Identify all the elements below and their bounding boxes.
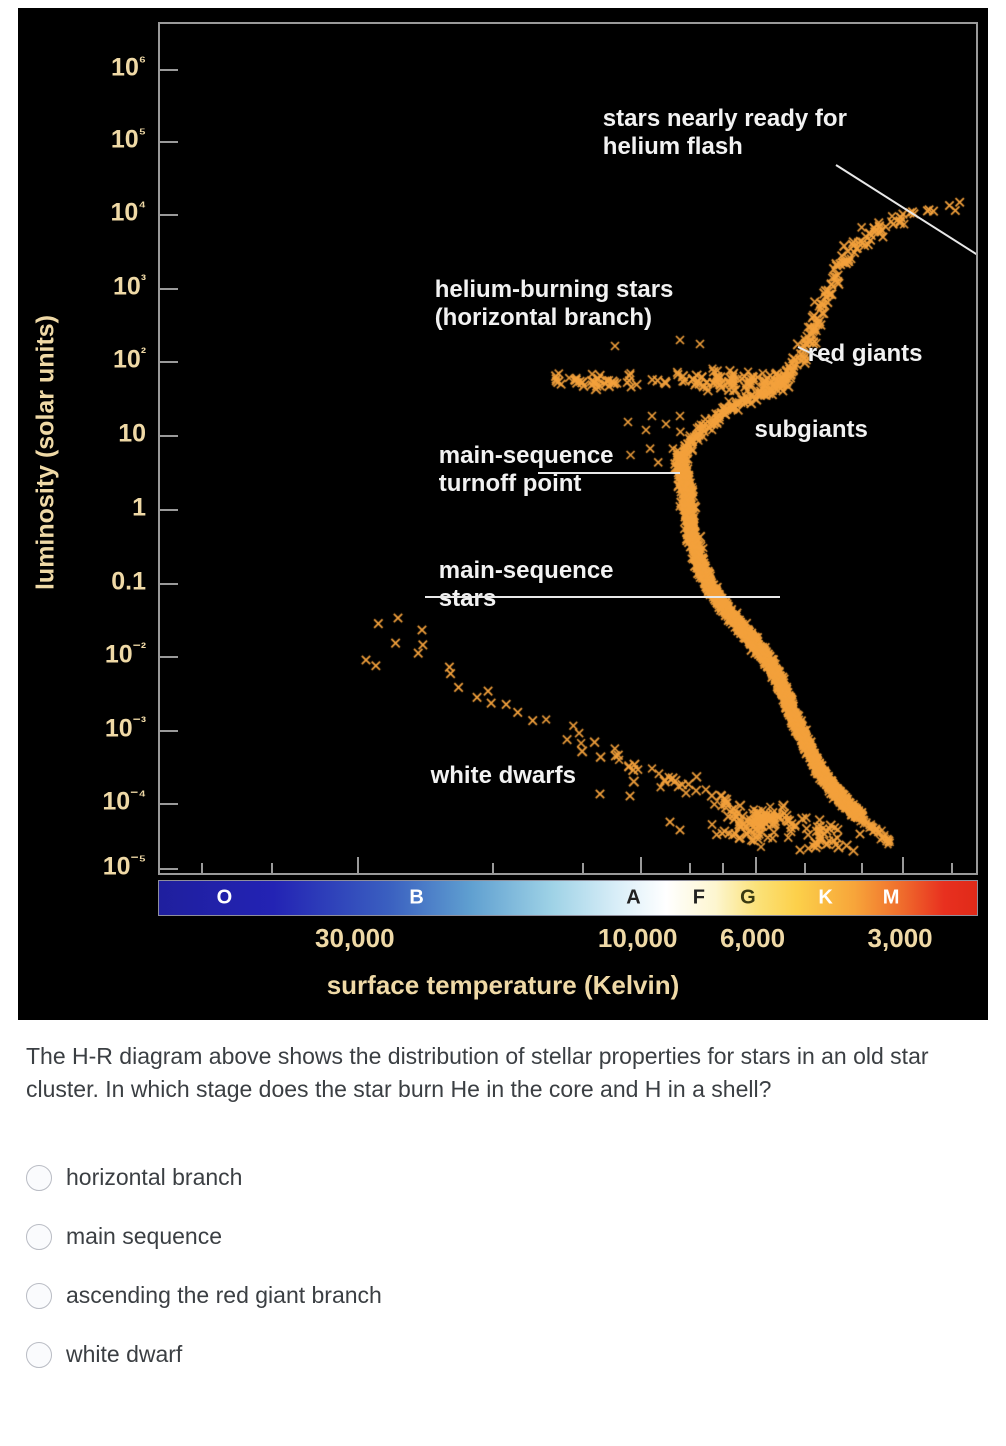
x-axis-tick-labels: 30,00010,0006,0003,000 [18, 923, 988, 963]
answer-option-opt-white-dwarf[interactable]: white dwarf [26, 1325, 980, 1384]
y-tick-mark [160, 361, 178, 363]
y-tick-label: 1 [132, 494, 146, 523]
spectral-class-label-G: G [740, 887, 756, 910]
leader-line [425, 596, 780, 598]
answer-options-list: horizontal branchmain sequenceascending … [0, 1148, 1006, 1384]
y-tick-mark [160, 656, 178, 658]
y-tick-label: 10⁻⁴ [102, 788, 146, 817]
spectral-class-colorbar: OBAFGKM [158, 880, 978, 916]
spectral-class-label-M: M [883, 887, 900, 910]
x-tick-label: 6,000 [720, 923, 785, 954]
x-tick-mark-minor [582, 863, 584, 873]
spectral-class-label-A: A [626, 887, 640, 910]
radio-button-opt-horizontal-branch[interactable] [26, 1165, 52, 1191]
x-tick-label: 10,000 [598, 923, 678, 954]
y-tick-label: 10⁻⁵ [103, 853, 146, 882]
page-root: 10⁶10⁵10⁴10³10²1010.110⁻²10⁻³10⁻⁴10⁻⁵ lu… [0, 0, 1006, 1446]
annotation-stars-nearly-ready-for-helium-flash: stars nearly ready for helium flash [603, 105, 847, 161]
annotation-main-sequence-turnoff-point: main-sequence turnoff point [439, 442, 614, 498]
radio-button-opt-ascending-rgb[interactable] [26, 1283, 52, 1309]
x-tick-mark-minor [492, 863, 494, 873]
x-tick-label: 30,000 [315, 923, 395, 954]
y-tick-label: 10⁶ [111, 54, 146, 83]
y-tick-mark [160, 730, 178, 732]
x-tick-mark-major [902, 857, 904, 873]
y-tick-label: 10 [118, 420, 146, 449]
x-tick-mark-minor [722, 863, 724, 873]
x-tick-label: 3,000 [868, 923, 933, 954]
y-tick-mark [160, 583, 178, 585]
x-axis-title: surface temperature (Kelvin) [18, 970, 988, 1001]
radio-button-opt-white-dwarf[interactable] [26, 1342, 52, 1368]
x-tick-mark-minor [689, 863, 691, 873]
y-tick-mark [160, 868, 178, 870]
y-tick-mark [160, 509, 178, 511]
x-tick-mark-major [640, 857, 642, 873]
spectral-class-label-B: B [409, 887, 423, 910]
answer-option-opt-main-sequence[interactable]: main sequence [26, 1207, 980, 1266]
leader-line [538, 472, 680, 474]
annotation-white-dwarfs: white dwarfs [431, 762, 576, 790]
answer-option-label: white dwarf [66, 1341, 182, 1368]
hr-diagram-figure: 10⁶10⁵10⁴10³10²1010.110⁻²10⁻³10⁻⁴10⁻⁵ lu… [18, 8, 988, 1020]
x-tick-mark-major [755, 857, 757, 873]
question-block: The H-R diagram above shows the distribu… [0, 1040, 1006, 1105]
plot-area: stars nearly ready for helium flashheliu… [158, 22, 978, 875]
y-tick-mark [160, 288, 178, 290]
x-tick-mark-major [357, 857, 359, 873]
y-tick-label: 10⁵ [111, 126, 146, 155]
annotation-subgiants: subgiants [755, 416, 868, 444]
radio-button-opt-main-sequence[interactable] [26, 1224, 52, 1250]
y-tick-label: 10² [113, 346, 146, 375]
answer-option-label: ascending the red giant branch [66, 1282, 382, 1309]
y-axis-title: luminosity (solar units) [32, 133, 61, 773]
x-tick-mark-minor [804, 863, 806, 873]
y-tick-mark [160, 803, 178, 805]
y-tick-label: 10⁻² [105, 641, 146, 670]
annotation-red-giants: red giants [808, 340, 923, 368]
answer-option-opt-horizontal-branch[interactable]: horizontal branch [26, 1148, 980, 1207]
y-tick-label: 10⁴ [111, 199, 146, 228]
x-tick-mark-minor [201, 863, 203, 873]
x-tick-mark-minor [271, 863, 273, 873]
y-tick-mark [160, 214, 178, 216]
annotation-main-sequence-stars: main-sequence stars [439, 557, 614, 613]
y-tick-label: 10⁻³ [105, 715, 146, 744]
y-tick-mark [160, 435, 178, 437]
spectral-class-label-F: F [693, 887, 705, 910]
answer-option-opt-ascending-rgb[interactable]: ascending the red giant branch [26, 1266, 980, 1325]
y-tick-label: 10³ [113, 273, 146, 302]
y-tick-mark [160, 141, 178, 143]
x-tick-mark-minor [951, 863, 953, 873]
y-tick-label: 0.1 [111, 568, 146, 597]
answer-option-label: horizontal branch [66, 1164, 242, 1191]
annotation-helium-burning-stars-horizontal-branch: helium-burning stars (horizontal branch) [435, 276, 674, 332]
x-tick-mark-minor [861, 863, 863, 873]
spectral-class-label-O: O [217, 887, 233, 910]
question-text: The H-R diagram above shows the distribu… [26, 1040, 980, 1105]
answer-option-label: main sequence [66, 1223, 222, 1250]
spectral-class-label-K: K [818, 887, 832, 910]
y-tick-mark [160, 69, 178, 71]
